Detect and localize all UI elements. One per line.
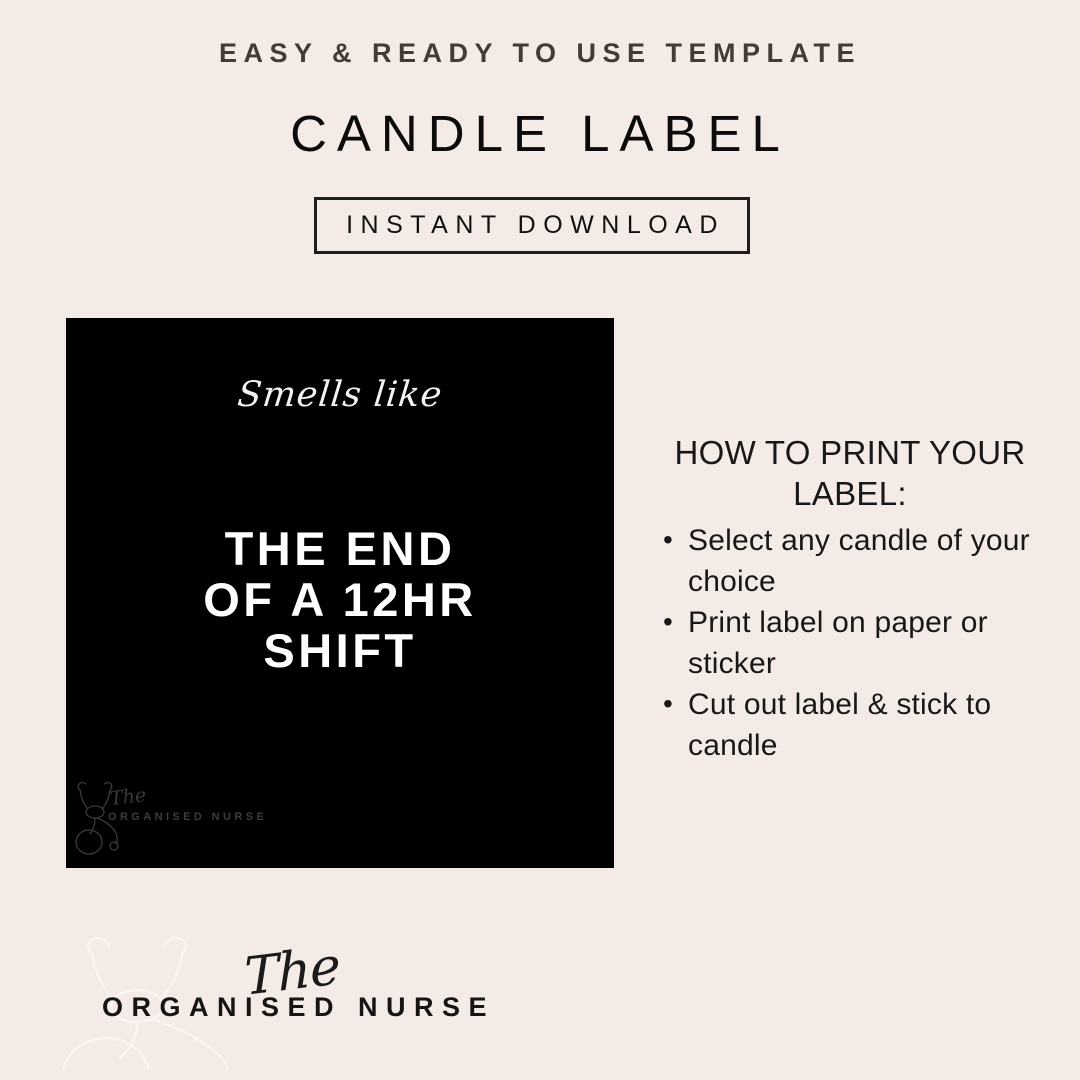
label-headline-line-3: SHIFT bbox=[66, 625, 614, 676]
list-item: Cut out label & stick to candle bbox=[686, 684, 1052, 766]
label-headline-line-2: OF A 12HR bbox=[66, 574, 614, 625]
instant-download-badge: INSTANT DOWNLOAD bbox=[314, 197, 750, 254]
label-watermark-script: The bbox=[109, 784, 147, 810]
page-title: CANDLE LABEL bbox=[0, 104, 1080, 163]
label-headline-line-1: THE END bbox=[66, 523, 614, 574]
label-watermark-wordmark: ORGANISED NURSE bbox=[108, 811, 267, 823]
instructions-list: Select any candle of your choice Print l… bbox=[648, 520, 1052, 766]
label-headline: THE END OF A 12HR SHIFT bbox=[66, 523, 614, 676]
label-script-text: Smells like bbox=[66, 375, 614, 415]
poster-canvas: EASY & READY TO USE TEMPLATE CANDLE LABE… bbox=[0, 0, 1080, 1080]
list-item: Print label on paper or sticker bbox=[686, 602, 1052, 684]
brand-logo-wordmark: ORGANISED NURSE bbox=[102, 992, 495, 1023]
label-watermark: The ORGANISED NURSE bbox=[74, 778, 304, 858]
candle-label-preview: Smells like THE END OF A 12HR SHIFT bbox=[66, 318, 614, 868]
eyebrow-text: EASY & READY TO USE TEMPLATE bbox=[0, 38, 1080, 69]
instructions-block: HOW TO PRINT YOUR LABEL: Select any cand… bbox=[648, 432, 1052, 766]
brand-logo: The ORGANISED NURSE bbox=[22, 920, 452, 1070]
list-item: Select any candle of your choice bbox=[686, 520, 1052, 602]
instant-download-label: INSTANT DOWNLOAD bbox=[339, 211, 725, 240]
instructions-heading: HOW TO PRINT YOUR LABEL: bbox=[648, 432, 1052, 514]
